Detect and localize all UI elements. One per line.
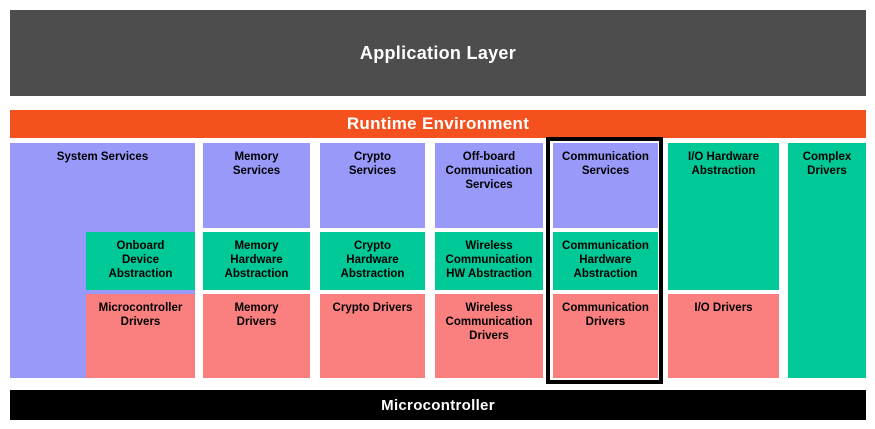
box-crypto-services-label: Crypto Services bbox=[349, 150, 396, 178]
box-memory-drivers-label: Memory Drivers bbox=[234, 301, 278, 329]
box-io-hardware-abstraction: I/O Hardware Abstraction bbox=[668, 143, 779, 290]
box-crypto-drivers-label: Crypto Drivers bbox=[333, 301, 413, 315]
application-layer-band: Application Layer bbox=[10, 10, 866, 96]
box-crypto-hardware-abstraction: Crypto Hardware Abstraction bbox=[320, 232, 425, 290]
box-crypto-hardware-abstraction-label: Crypto Hardware Abstraction bbox=[341, 239, 405, 281]
box-crypto-services: Crypto Services bbox=[320, 143, 425, 228]
box-memory-services: Memory Services bbox=[203, 143, 310, 228]
box-io-drivers: I/O Drivers bbox=[668, 294, 779, 378]
box-communication-services-label: Communication Services bbox=[562, 150, 649, 178]
box-onboard-device-abstraction-label: Onboard Device Abstraction bbox=[109, 239, 173, 281]
box-system-services-label: System Services bbox=[57, 150, 148, 164]
box-memory-hardware-abstraction-label: Memory Hardware Abstraction bbox=[225, 239, 289, 281]
box-wireless-communication-drivers: Wireless Communication Drivers bbox=[435, 294, 543, 378]
application-layer-label: Application Layer bbox=[360, 43, 516, 64]
autosar-layered-architecture-diagram: Application Layer Runtime Environment Sy… bbox=[0, 0, 875, 429]
box-communication-drivers: Communication Drivers bbox=[553, 294, 658, 378]
box-memory-drivers: Memory Drivers bbox=[203, 294, 310, 378]
box-wireless-communication-hw-abstraction-label: Wireless Communication HW Abstraction bbox=[446, 239, 533, 281]
microcontroller-band: Microcontroller bbox=[10, 390, 866, 420]
box-communication-hardware-abstraction-label: Communication Hardware Abstraction bbox=[562, 239, 649, 281]
box-communication-services: Communication Services bbox=[553, 143, 658, 228]
box-onboard-device-abstraction: Onboard Device Abstraction bbox=[86, 232, 195, 290]
box-wireless-communication-drivers-label: Wireless Communication Drivers bbox=[446, 301, 533, 343]
box-offboard-communication-services: Off-board Communication Services bbox=[435, 143, 543, 228]
box-wireless-communication-hw-abstraction: Wireless Communication HW Abstraction bbox=[435, 232, 543, 290]
box-communication-hardware-abstraction: Communication Hardware Abstraction bbox=[553, 232, 658, 290]
box-communication-drivers-label: Communication Drivers bbox=[562, 301, 649, 329]
microcontroller-label: Microcontroller bbox=[381, 397, 495, 414]
box-complex-drivers: Complex Drivers bbox=[788, 143, 866, 378]
box-memory-services-label: Memory Services bbox=[233, 150, 280, 178]
box-complex-drivers-label: Complex Drivers bbox=[803, 150, 852, 178]
box-microcontroller-drivers-label: Microcontroller Drivers bbox=[99, 301, 183, 329]
box-memory-hardware-abstraction: Memory Hardware Abstraction bbox=[203, 232, 310, 290]
box-io-drivers-label: I/O Drivers bbox=[694, 301, 752, 315]
box-microcontroller-drivers: Microcontroller Drivers bbox=[86, 294, 195, 378]
box-io-hardware-abstraction-label: I/O Hardware Abstraction bbox=[688, 150, 759, 178]
box-crypto-drivers: Crypto Drivers bbox=[320, 294, 425, 378]
box-offboard-communication-services-label: Off-board Communication Services bbox=[446, 150, 533, 192]
runtime-environment-band: Runtime Environment bbox=[10, 110, 866, 138]
runtime-environment-label: Runtime Environment bbox=[347, 114, 529, 134]
